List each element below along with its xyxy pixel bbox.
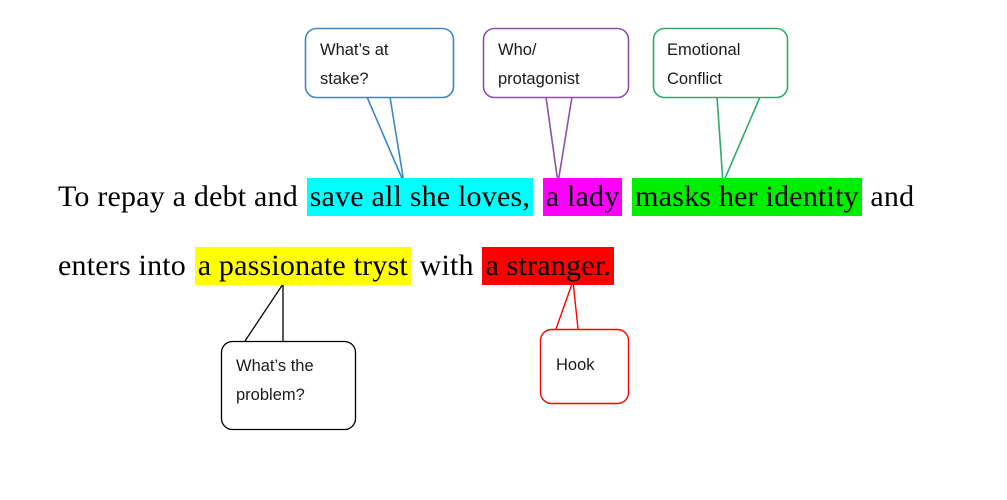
highlight-a-stranger[interactable]: a stranger.	[482, 247, 613, 285]
text-segment-space	[622, 180, 632, 213]
callout-hook-body[interactable]	[541, 330, 629, 404]
callout-who-protagonist[interactable]: Who/ protagonist	[484, 29, 629, 184]
highlight-a-lady[interactable]: a lady	[543, 178, 623, 216]
callout-emotional-conflict-body[interactable]	[654, 29, 788, 98]
text-segment-plain: To repay a debt and	[57, 180, 307, 213]
callout-who-protagonist-body[interactable]	[484, 29, 629, 98]
callout-hook[interactable]: Hook	[541, 281, 629, 404]
callout-who-protagonist-line1: Who/	[498, 41, 537, 59]
callout-whats-the-problem-tail	[245, 284, 283, 341]
callout-emotional-conflict-line1: Emotional	[667, 41, 740, 59]
callout-hook-line1: Hook	[556, 356, 595, 374]
callout-emotional-conflict[interactable]: Emotional Conflict	[654, 29, 788, 184]
highlight-save-all-she-loves[interactable]: save all she loves,	[307, 178, 533, 216]
callout-whats-the-problem-line1: What’s the	[236, 357, 314, 375]
text-segment-enters-into: enters into	[57, 249, 195, 282]
highlight-a-passionate-tryst[interactable]: a passionate tryst	[195, 247, 411, 285]
callout-whats-the-problem-line2: problem?	[236, 386, 305, 404]
logline-line-2: enters into a passionate tryst with a st…	[57, 249, 614, 283]
callout-hook-tail	[556, 281, 578, 329]
callout-who-protagonist-line2: protagonist	[498, 70, 580, 88]
callout-emotional-conflict-tail	[717, 97, 760, 183]
callout-emotional-conflict-line2: Conflict	[667, 70, 722, 88]
text-segment-space	[533, 180, 543, 213]
callout-whats-the-problem-body[interactable]	[222, 342, 356, 430]
logline-line-1: To repay a debt and save all she loves, …	[57, 180, 915, 214]
callout-whats-at-stake-body[interactable]	[306, 29, 454, 98]
callout-whats-the-problem[interactable]: What’s the problem?	[222, 284, 356, 430]
callout-whats-at-stake-line1: What’s at	[320, 41, 389, 59]
diagram-canvas: What’s at stake? Who/ protagonist Emotio…	[0, 0, 1007, 500]
callout-whats-at-stake-tail	[367, 97, 404, 183]
highlight-masks-her-identity[interactable]: masks her identity	[632, 178, 862, 216]
text-segment-and: and	[862, 180, 916, 213]
text-segment-with: with	[411, 249, 483, 282]
callout-who-protagonist-tail	[546, 97, 572, 183]
callout-whats-at-stake[interactable]: What’s at stake?	[306, 29, 454, 184]
callout-whats-at-stake-line2: stake?	[320, 70, 369, 88]
